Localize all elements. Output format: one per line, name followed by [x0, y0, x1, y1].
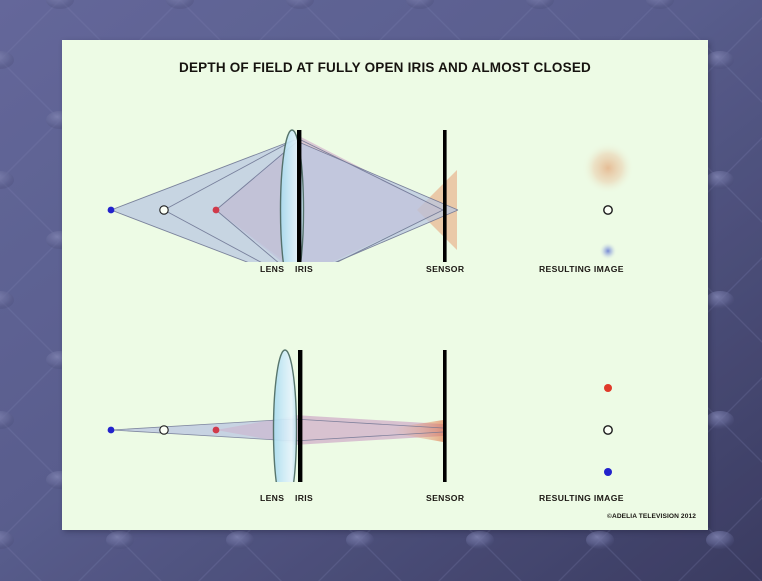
red-point-top — [213, 207, 220, 214]
caption-iris-bottom: IRIS — [295, 493, 313, 503]
resulting-blue-dot-top — [599, 242, 617, 260]
sensor-bar-top — [443, 130, 447, 262]
blue-point-top — [108, 207, 115, 214]
caption-lens-top: LENS — [260, 264, 284, 274]
resulting-white-dot-bottom — [604, 426, 612, 434]
red-point-bottom — [213, 427, 220, 434]
copyright-notice: ©ADELIA TELEVISION 2012 — [607, 513, 696, 520]
screenshot-root: DEPTH OF FIELD AT FULLY OPEN IRIS AND AL… — [0, 0, 762, 581]
caption-resulting-image-top: RESULTING IMAGE — [539, 264, 624, 274]
sensor-bar-bottom — [443, 350, 447, 482]
iris-bar-top — [297, 130, 301, 262]
page-title: DEPTH OF FIELD AT FULLY OPEN IRIS AND AL… — [62, 60, 708, 75]
iris-bar-bottom — [298, 350, 302, 482]
captions-bottom: LENS IRIS SENSOR RESULTING IMAGE — [62, 493, 708, 507]
lens-bottom — [274, 350, 297, 482]
blue-point-bottom — [108, 427, 115, 434]
diagram-almost-closed-iris — [62, 302, 708, 482]
captions-top: LENS IRIS SENSOR RESULTING IMAGE — [62, 264, 708, 278]
resulting-red-dot-bottom — [604, 384, 612, 392]
white-point-top — [160, 206, 168, 214]
white-point-bottom — [160, 426, 168, 434]
resulting-blue-dot-bottom — [604, 468, 612, 476]
caption-iris-top: IRIS — [295, 264, 313, 274]
caption-sensor-top: SENSOR — [426, 264, 464, 274]
caption-lens-bottom: LENS — [260, 493, 284, 503]
diagram-fully-open-iris — [62, 82, 708, 262]
resulting-red-blob-top — [582, 142, 634, 194]
slide-panel: DEPTH OF FIELD AT FULLY OPEN IRIS AND AL… — [62, 40, 708, 530]
caption-sensor-bottom: SENSOR — [426, 493, 464, 503]
resulting-white-dot-top — [604, 206, 612, 214]
caption-resulting-image-bottom: RESULTING IMAGE — [539, 493, 624, 503]
